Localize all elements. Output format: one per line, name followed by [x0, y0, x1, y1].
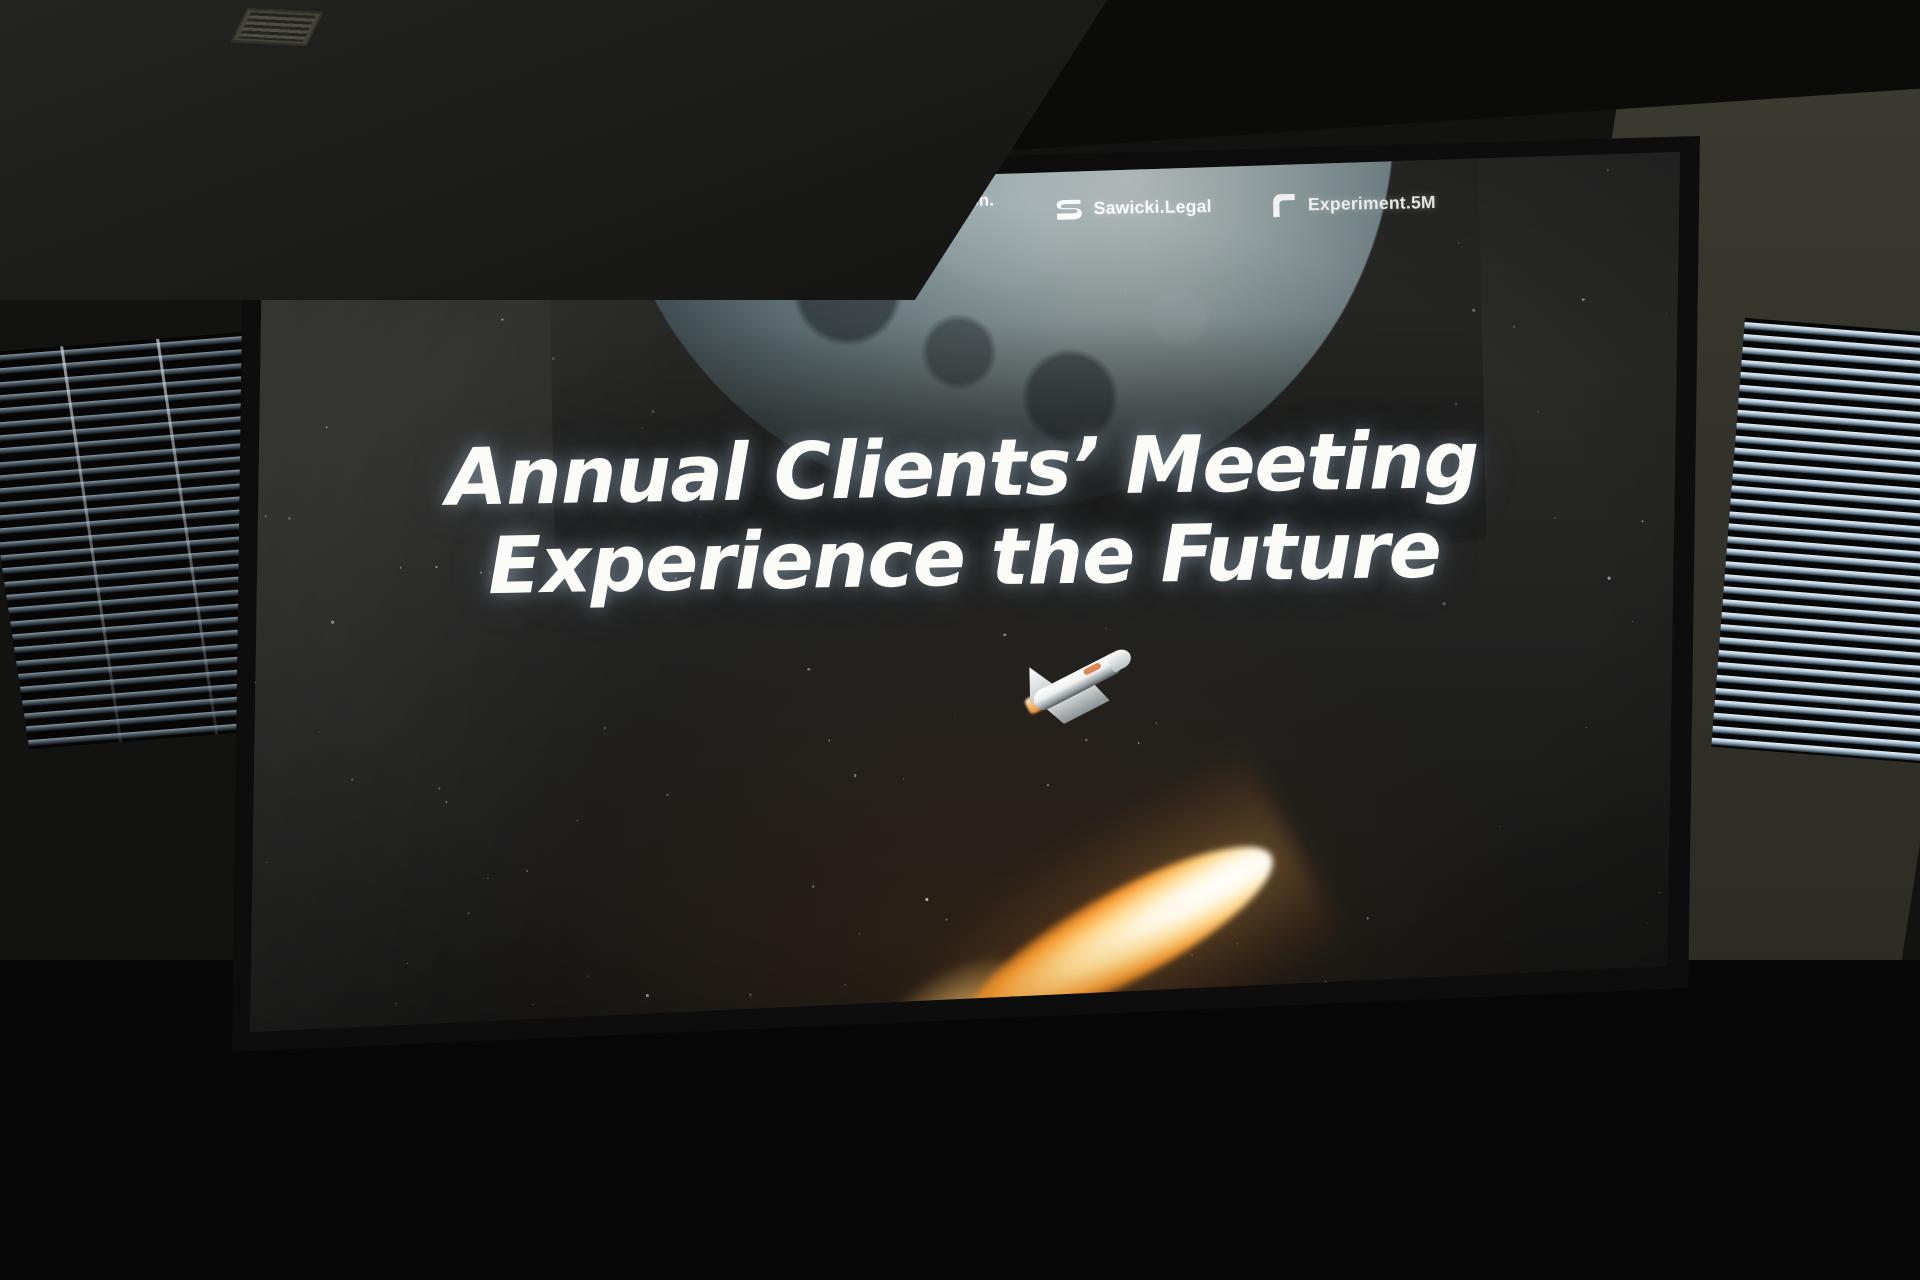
star	[532, 1004, 533, 1005]
star	[807, 668, 810, 671]
window-blind-right[interactable]	[1711, 318, 1920, 770]
star	[1443, 603, 1446, 606]
star	[351, 779, 353, 781]
slide-headline: Annual Clients’ Meeting Experience the F…	[250, 411, 1680, 615]
star	[828, 739, 830, 741]
star	[406, 963, 408, 965]
star	[1499, 826, 1500, 827]
star	[326, 426, 328, 428]
experiment-5m-wordmark: Experiment.5M	[1308, 193, 1436, 216]
blind-slats	[1711, 318, 1920, 770]
star	[587, 976, 588, 977]
star	[603, 727, 606, 730]
star	[1632, 621, 1633, 622]
star	[1659, 892, 1661, 894]
star	[487, 877, 489, 879]
star	[445, 801, 446, 802]
star	[1047, 784, 1049, 786]
star	[954, 716, 956, 718]
star	[331, 621, 334, 624]
sawicki-legal-icon	[1054, 196, 1083, 222]
star	[1512, 326, 1515, 329]
star	[502, 319, 504, 321]
sawicki-legal-wordmark: Sawicki.Legal	[1093, 196, 1212, 219]
ceiling-vent-icon	[231, 8, 324, 46]
star	[646, 994, 649, 997]
conference-room: XXII 22 VENTURES TGRS TIGERS HQAO HUQIAO	[0, 0, 1920, 1280]
star	[1085, 739, 1087, 741]
star	[903, 778, 904, 779]
star	[1138, 742, 1140, 744]
star	[1004, 634, 1007, 637]
star	[1646, 922, 1647, 923]
star	[318, 732, 319, 733]
star	[1537, 412, 1538, 413]
experiment-5m-icon	[1271, 192, 1296, 219]
star	[813, 886, 814, 887]
star	[266, 862, 267, 863]
star	[1585, 727, 1587, 729]
star	[1366, 918, 1368, 920]
logo-experiment-5m: Experiment.5M	[1271, 189, 1436, 219]
star	[1582, 298, 1585, 301]
star	[854, 774, 857, 777]
star	[395, 1003, 397, 1005]
star	[1666, 313, 1667, 314]
star	[1155, 722, 1157, 724]
star	[438, 787, 440, 789]
logo-sawicki-legal: Sawicki.Legal	[1054, 194, 1212, 223]
star	[667, 794, 670, 797]
star	[526, 870, 528, 872]
star	[576, 820, 578, 821]
star	[467, 912, 470, 915]
